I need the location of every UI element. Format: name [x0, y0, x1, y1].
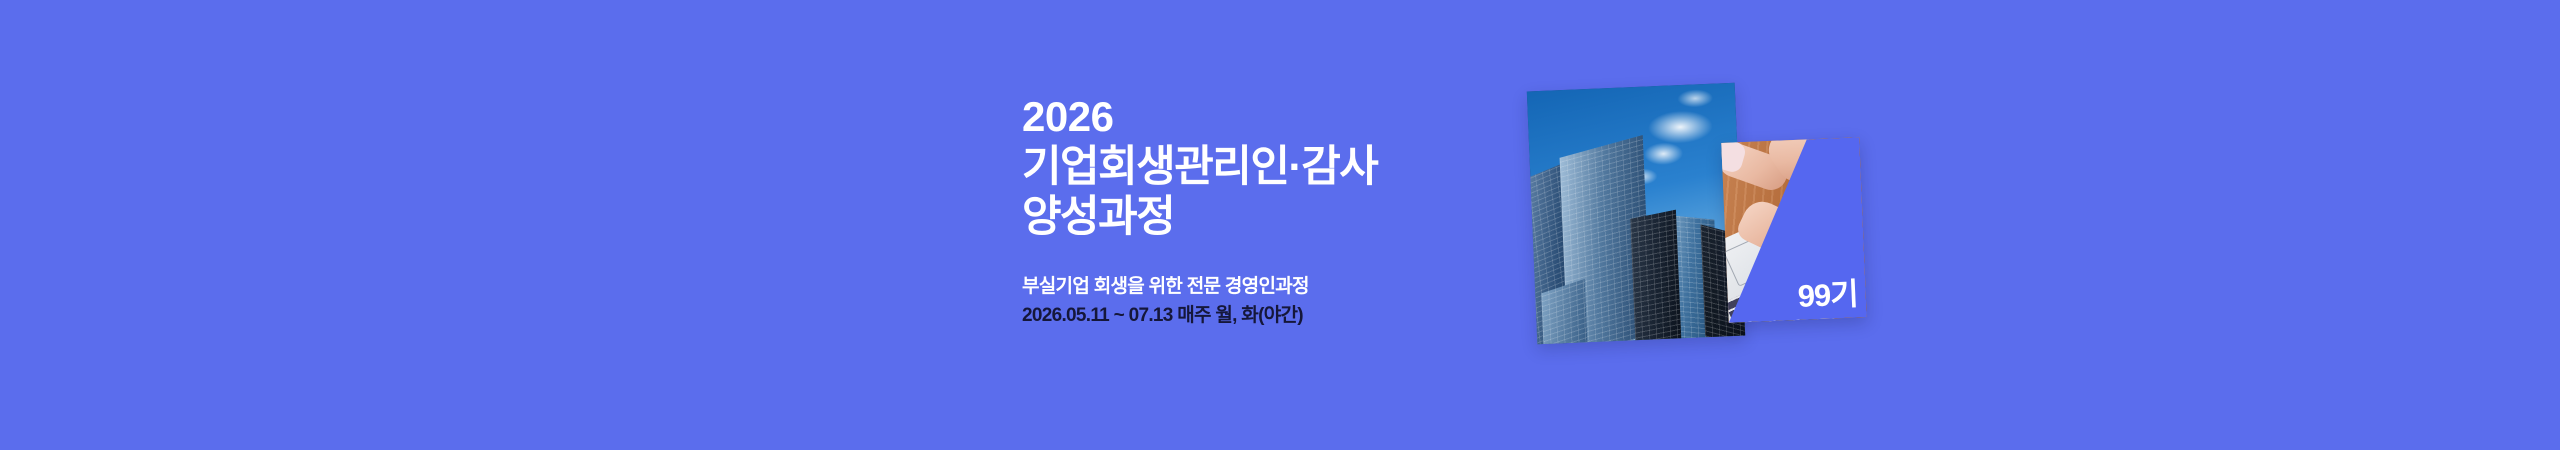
laptop-hands-photo-card: 99기 [1721, 137, 1866, 323]
cohort-badge: 99기 [1797, 277, 1858, 313]
banner-date-range: 2026.05.11 ~ 07.13 매주 월, 화(야간) [1022, 301, 1492, 331]
banner-subcopy-block: 부실기업 회생을 위한 전문 경영인과정 2026.05.11 ~ 07.13 … [1022, 272, 1492, 331]
banner-copy-block: 2026 기업회생관리인·감사 양성과정 부실기업 회생을 위한 전문 경영인과… [1022, 92, 1492, 331]
building-photo-card [1527, 83, 1745, 344]
headline-line-program: 양성과정 [1022, 192, 1492, 242]
banner-photo-collage: 99기 [1500, 0, 1920, 450]
course-promo-banner[interactable]: 2026 기업회생관리인·감사 양성과정 부실기업 회생을 위한 전문 경영인과… [0, 0, 2560, 450]
banner-subtitle: 부실기업 회생을 위한 전문 경영인과정 [1022, 272, 1492, 301]
headline-line-year: 2026 [1022, 92, 1492, 142]
tower-shape [1630, 210, 1681, 345]
headline-line-course-name: 기업회생관리인·감사 [1022, 142, 1492, 192]
